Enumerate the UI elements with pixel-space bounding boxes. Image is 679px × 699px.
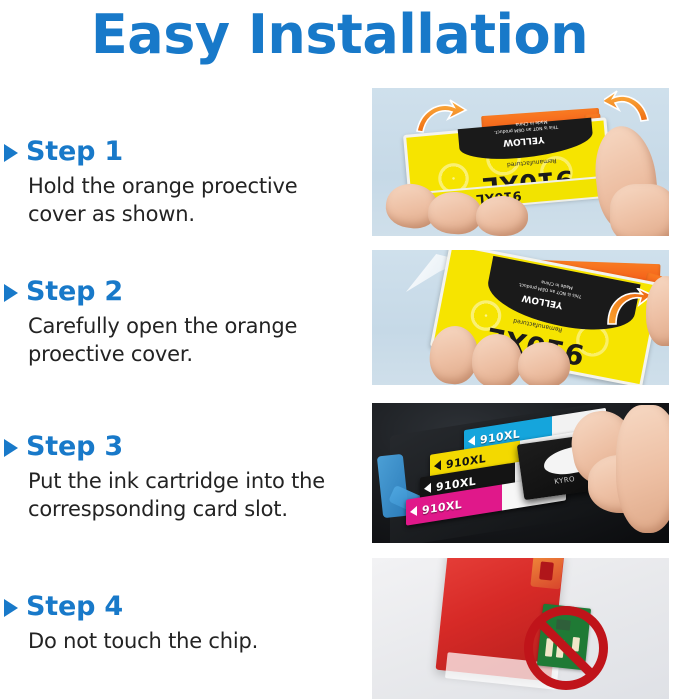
step-1-title: Step 1 [26,137,123,167]
hand-palm [616,405,669,533]
triangle-right-icon [4,439,18,457]
photo-1-scene: YELLOW This is NOT an OEM product. Made … [372,88,669,236]
step-4-description: Do not touch the chip. [28,627,338,655]
triangle-left-icon [434,460,441,471]
step-item-3: Step 3 Put the ink cartridge into the co… [4,432,344,523]
hand-palm [610,184,669,236]
photo-step-2: YELLOW This is NOT an OEM product. Made … [372,250,669,385]
ink-slot-magenta-label: 910XL [422,497,462,516]
photo-column: YELLOW This is NOT an OEM product. Made … [372,0,669,699]
triangle-right-icon [4,144,18,162]
step-1-description: Hold the orange proective cover as shown… [28,172,338,228]
triangle-left-icon [424,483,431,494]
cartridge-brand-mark: KYRO [554,475,576,486]
step-item-4: Step 4 Do not touch the chip. [4,592,344,655]
step-2-description: Carefully open the orange proective cove… [28,312,338,368]
hand-fingers [472,334,522,385]
photo-step-3: 910XL 910XL 910XL 910XL KYRO [372,403,669,543]
photo-3-scene: 910XL 910XL 910XL 910XL KYRO [372,403,669,543]
triangle-left-icon [410,506,417,517]
orange-arrow-icon [604,90,650,124]
hand-fingers [476,196,528,236]
step-item-1: Step 1 Hold the orange proective cover a… [4,137,344,228]
photo-step-4 [372,558,669,699]
photo-4-scene [372,558,669,699]
steps-column: Step 1 Hold the orange proective cover a… [0,0,352,699]
photo-2-scene: YELLOW This is NOT an OEM product. Made … [372,250,669,385]
step-3-heading: Step 3 [4,432,344,462]
step-item-2: Step 2 Carefully open the orange proecti… [4,277,344,368]
step-1-heading: Step 1 [4,137,344,167]
step-4-heading: Step 4 [4,592,344,622]
step-2-heading: Step 2 [4,277,344,307]
triangle-left-icon [468,436,475,447]
triangle-right-icon [4,599,18,617]
step-3-description: Put the ink cartridge into the correspso… [28,467,338,523]
step-2-title: Step 2 [26,277,123,307]
triangle-right-icon [4,284,18,302]
photo-step-1: YELLOW This is NOT an OEM product. Made … [372,88,669,236]
cartridge-outlet-inner [539,561,554,580]
hand-fingers [518,342,570,385]
step-4-title: Step 4 [26,592,123,622]
step-3-title: Step 3 [26,432,123,462]
orange-arrow-icon [604,288,652,328]
